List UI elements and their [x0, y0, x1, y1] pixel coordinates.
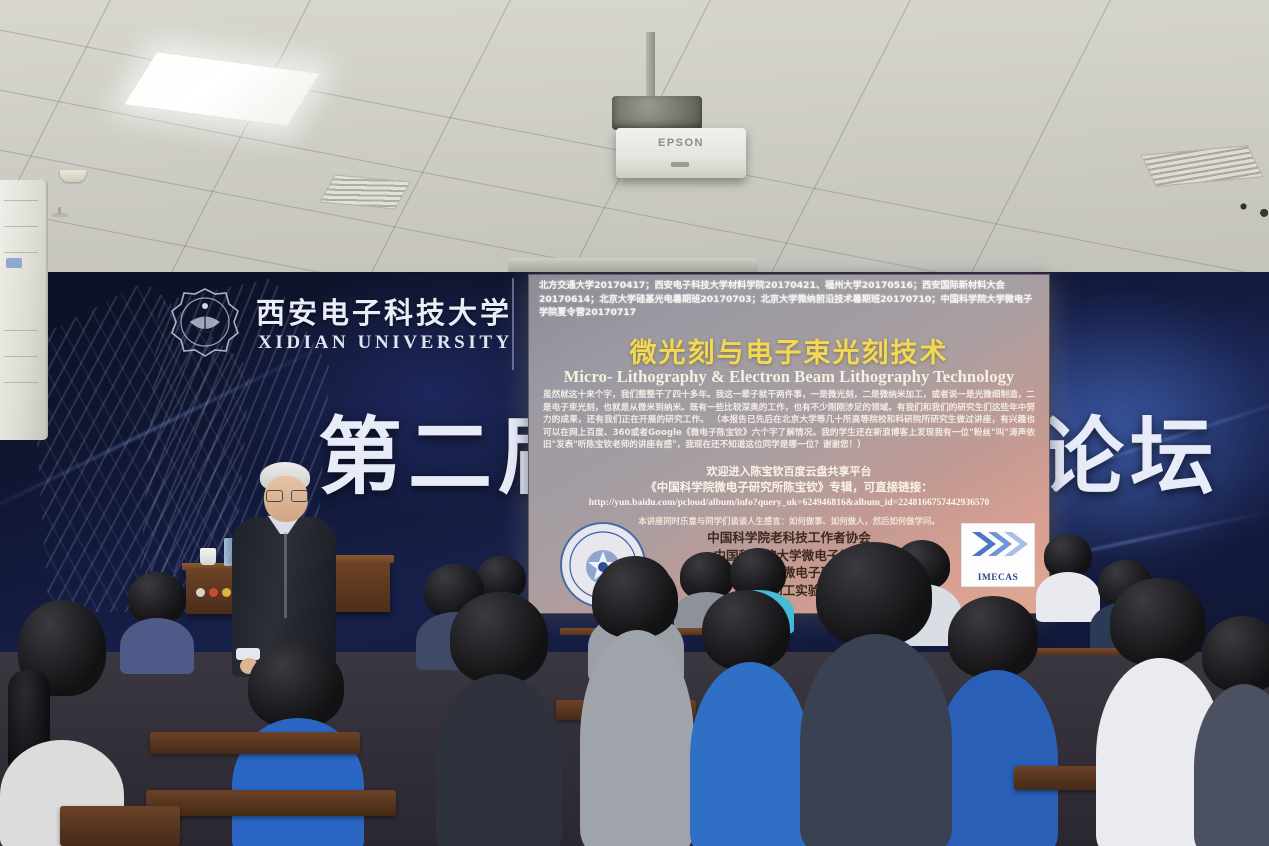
- banner-divider: [512, 278, 514, 370]
- projector: EPSON: [616, 128, 746, 178]
- audience-member: [120, 572, 194, 668]
- xidian-seal-icon: [168, 286, 242, 366]
- projector-cables: [1228, 196, 1269, 222]
- air-vent: [1141, 145, 1264, 187]
- audience-member: [436, 592, 560, 846]
- projector-lens-icon: [671, 162, 689, 167]
- speaker-glasses-icon: [266, 490, 306, 500]
- banner-event-text-right: 论坛: [1040, 390, 1220, 511]
- slide-album-line: 《中国科学院微电子研究所陈宝钦》专辑，可直接链接：: [529, 479, 1049, 495]
- bench-back: [150, 732, 360, 754]
- slide-url: http://yun.baidu.com/pcloud/album/info?q…: [529, 497, 1049, 508]
- slide-header-text: 北方交通大学20170417；西安电子科技大学材料学院20170421、福州大学…: [539, 279, 1039, 320]
- smoke-detector-icon: [60, 170, 86, 182]
- projector-bracket: [612, 96, 702, 130]
- audience-member: [580, 560, 692, 846]
- slide-title-en: Micro- Lithography & Electron Beam Litho…: [529, 367, 1049, 387]
- sprinkler-head-icon: [52, 213, 68, 217]
- imecas-logo-text: IMECAS: [962, 573, 1034, 583]
- lecture-hall-photo: EPSON 西安电子科技大学 XIDIAN UNIVE: [0, 0, 1269, 846]
- ac-badge: [6, 258, 22, 268]
- ceiling-light-panel: [123, 51, 321, 127]
- imecas-chevron-icon: [962, 524, 1034, 568]
- speaker-jacket-zip: [284, 532, 287, 618]
- xidian-logo-block: 西安电子科技大学 XIDIAN UNIVERSITY: [168, 286, 518, 378]
- slide-title-cn: 微光刻与电子束光刻技术: [529, 331, 1049, 370]
- air-conditioner-unit: [0, 180, 48, 440]
- imecas-logo: IMECAS: [961, 523, 1035, 587]
- slide-welcome-line: 欢迎进入陈宝钦百度云盘共享平台: [529, 463, 1049, 479]
- audience-member: [690, 590, 808, 846]
- audience-member: [1194, 616, 1269, 846]
- bench-back: [60, 806, 180, 846]
- university-name-cn: 西安电子科技大学: [256, 290, 512, 332]
- audience-member: [936, 596, 1056, 846]
- ceiling: EPSON: [0, 0, 1269, 272]
- university-name-en: XIDIAN UNIVERSITY: [258, 332, 513, 354]
- audience-member: [800, 542, 950, 846]
- screen-roller-housing: [508, 258, 758, 272]
- air-vent: [319, 175, 411, 210]
- bench-back: [146, 790, 396, 816]
- slide-body-text: 虽然就这十来个字，我们整整干了四十多年。我这一辈子就干两件事，一是微光刻，二是微…: [543, 389, 1035, 452]
- projector-brand-label: EPSON: [616, 137, 746, 149]
- cup: [200, 548, 216, 565]
